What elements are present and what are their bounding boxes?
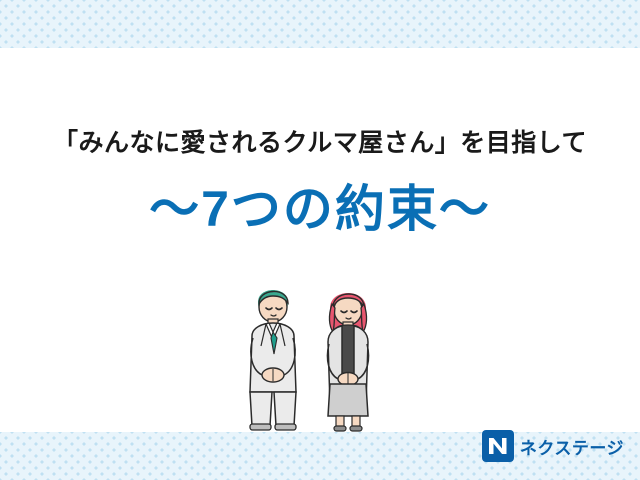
top-dot-band xyxy=(0,0,640,48)
headline-secondary: ～7つの約束～ xyxy=(0,178,640,240)
banner-image: 「みんなに愛されるクルマ屋さん」を目指して ～7つの約束～ xyxy=(0,0,640,480)
male-staff-figure xyxy=(250,290,296,430)
nextage-logo: ネクステージ xyxy=(482,430,624,462)
female-staff-figure xyxy=(327,293,368,431)
headline-primary: 「みんなに愛されるクルマ屋さん」を目指して xyxy=(0,126,640,160)
two-staff-bowing-illustration xyxy=(236,274,406,434)
logo-text: ネクステージ xyxy=(520,434,624,459)
logo-mark-icon xyxy=(482,430,514,462)
